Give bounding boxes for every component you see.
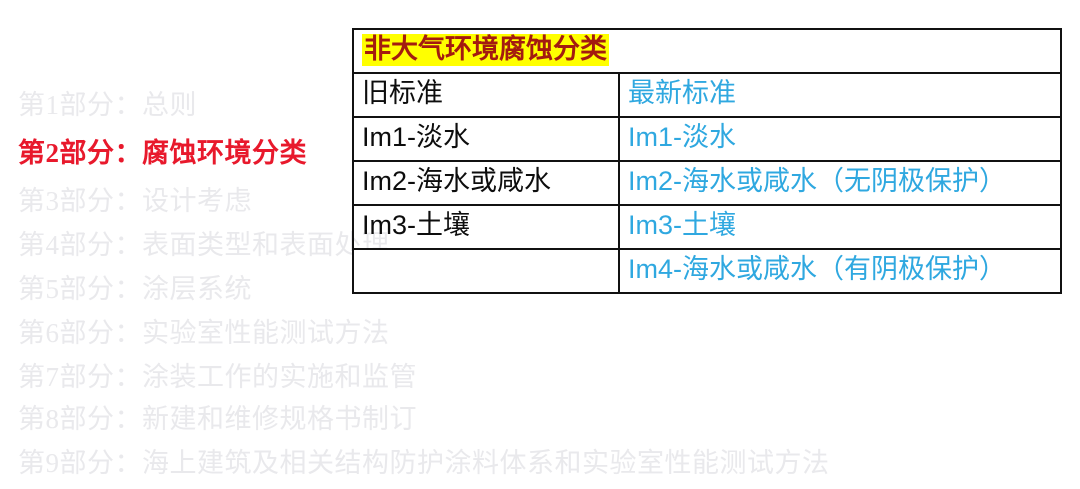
table-title: 非大气环境腐蚀分类 [362, 34, 609, 65]
outline-item-9[interactable]: 第9部分：海上建筑及相关结构防护涂料体系和实验室性能测试方法 [18, 450, 830, 477]
cell-new-im3: Im3-土壤 [619, 205, 1061, 249]
new-standard-value: Im1-淡水 [628, 122, 736, 152]
column-header-new: 最新标准 [628, 78, 736, 108]
old-standard-value: Im1-淡水 [362, 122, 470, 152]
new-standard-value: Im4-海水或咸水（有阴极保护） [628, 254, 1006, 284]
cell-old-im2: Im2-海水或咸水 [353, 161, 619, 205]
table-row: Im3-土壤 Im3-土壤 [353, 205, 1061, 249]
table-row-header: 旧标准 最新标准 [353, 73, 1061, 117]
outline-item-6[interactable]: 第6部分：实验室性能测试方法 [18, 320, 390, 347]
outline-item-7[interactable]: 第7部分：涂装工作的实施和监管 [18, 364, 417, 391]
outline-item-2-active[interactable]: 第2部分：腐蚀环境分类 [18, 140, 307, 167]
outline-item-8[interactable]: 第8部分：新建和维修规格书制订 [18, 406, 417, 433]
new-standard-value: Im2-海水或咸水（无阴极保护） [628, 166, 1006, 196]
outline-item-1[interactable]: 第1部分：总则 [18, 92, 197, 119]
table-row: Im4-海水或咸水（有阴极保护） [353, 249, 1061, 293]
header-cell-new-standard: 最新标准 [619, 73, 1061, 117]
cell-new-im2: Im2-海水或咸水（无阴极保护） [619, 161, 1061, 205]
table-row-title: 非大气环境腐蚀分类 [353, 29, 1061, 73]
cell-new-im4: Im4-海水或咸水（有阴极保护） [619, 249, 1061, 293]
header-cell-old-standard: 旧标准 [353, 73, 619, 117]
cell-old-im1: Im1-淡水 [353, 117, 619, 161]
outline-item-5[interactable]: 第5部分：涂层系统 [18, 276, 252, 303]
table-title-cell: 非大气环境腐蚀分类 [353, 29, 1061, 73]
outline-item-3[interactable]: 第3部分：设计考虑 [18, 188, 252, 215]
cell-old-im3: Im3-土壤 [353, 205, 619, 249]
corrosion-classification-table: 非大气环境腐蚀分类 旧标准 最新标准 Im1-淡水 Im1-淡水 Im2-海水或… [352, 28, 1062, 294]
new-standard-value: Im3-土壤 [628, 210, 736, 240]
table-row: Im2-海水或咸水 Im2-海水或咸水（无阴极保护） [353, 161, 1061, 205]
cell-old-empty [353, 249, 619, 293]
old-standard-value: Im2-海水或咸水 [362, 166, 551, 196]
table-row: Im1-淡水 Im1-淡水 [353, 117, 1061, 161]
outline-item-4[interactable]: 第4部分：表面类型和表面处理 [18, 232, 390, 259]
column-header-old: 旧标准 [362, 78, 443, 108]
cell-new-im1: Im1-淡水 [619, 117, 1061, 161]
old-standard-value: Im3-土壤 [362, 210, 470, 240]
